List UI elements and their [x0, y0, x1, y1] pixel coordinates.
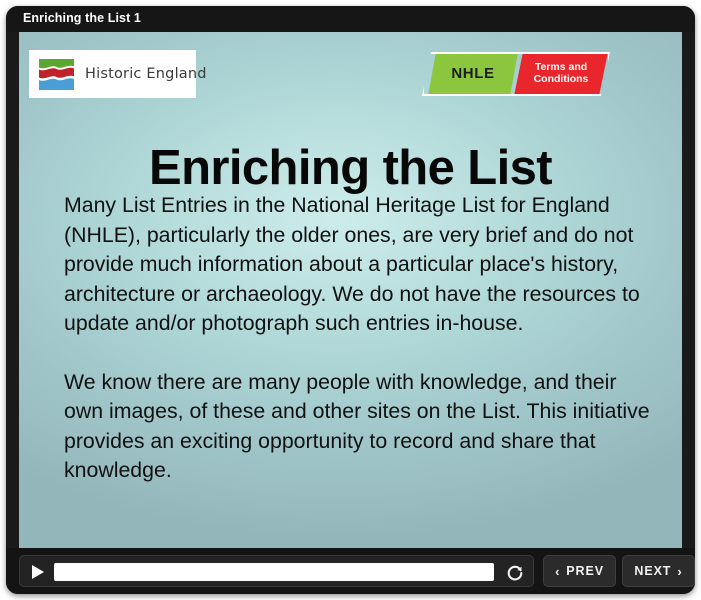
slide-body: Many List Entries in the National Herita… [64, 191, 660, 486]
play-icon [32, 565, 44, 579]
nhle-badge-group: NHLE Terms and Conditions [422, 52, 610, 96]
player-control-bar: ‹ PREV NEXT › [6, 548, 695, 594]
terms-and-conditions-badge[interactable]: Terms and Conditions [514, 52, 608, 96]
chevron-left-icon: ‹ [555, 564, 560, 579]
slide-paragraph-2: We know there are many people with knowl… [64, 368, 660, 486]
next-button[interactable]: NEXT › [622, 555, 695, 587]
historic-england-logo: Historic England [29, 50, 196, 98]
title-bar: Enriching the List 1 [6, 6, 695, 32]
nhle-badge-label: NHLE [451, 66, 494, 83]
next-button-label: NEXT [634, 564, 671, 578]
slide-heading: Enriching the List [19, 140, 682, 196]
historic-england-logo-mark [39, 59, 74, 90]
terms-badge-line1: Terms and [535, 61, 587, 73]
play-button[interactable] [28, 562, 48, 582]
slide-paragraph-1: Many List Entries in the National Herita… [64, 191, 660, 339]
replay-button[interactable] [502, 560, 528, 586]
nhle-badge[interactable]: NHLE [428, 52, 518, 96]
terms-badge-line2: Conditions [534, 73, 589, 85]
presentation-player-frame: Enriching the List 1 Historic England NH… [6, 6, 695, 594]
slide-stage: Historic England NHLE Terms and Conditio… [19, 32, 682, 548]
prev-button-label: PREV [566, 564, 604, 578]
chevron-right-icon: › [677, 564, 682, 579]
prev-button[interactable]: ‹ PREV [543, 555, 616, 587]
historic-england-logo-text: Historic England [85, 66, 207, 82]
page-title: Enriching the List 1 [23, 11, 141, 25]
replay-icon [506, 564, 524, 582]
transport-panel [19, 555, 534, 587]
terms-badge-label: Terms and Conditions [534, 62, 589, 86]
progress-bar[interactable] [54, 563, 494, 581]
